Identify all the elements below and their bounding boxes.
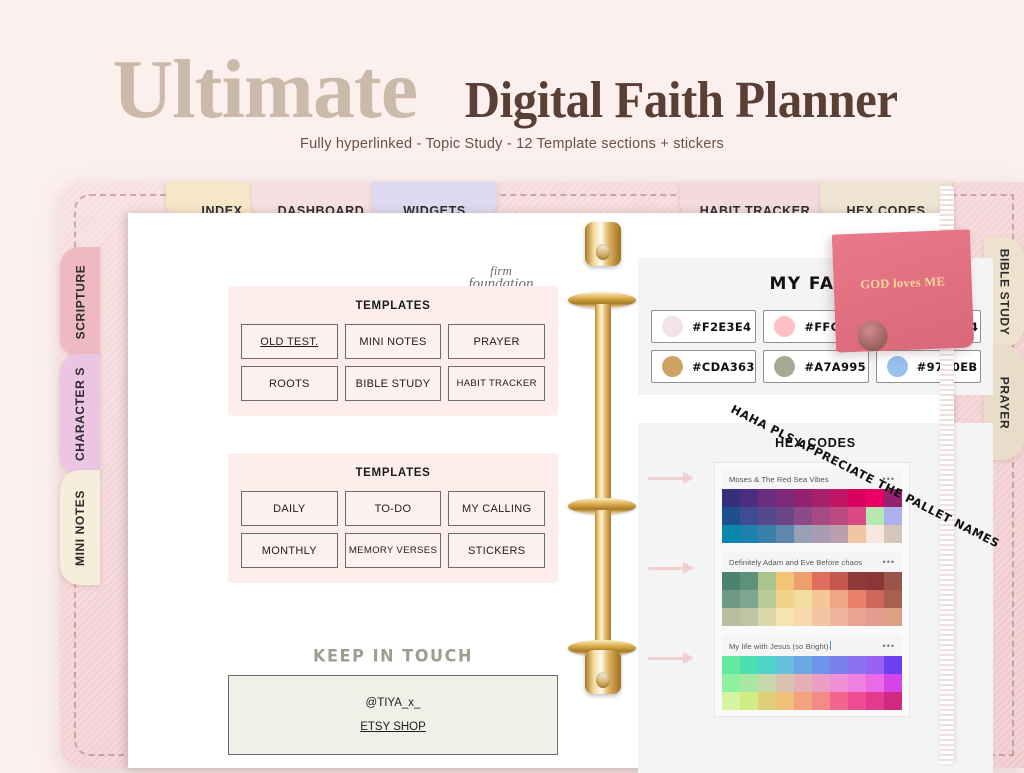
color-dot [662,356,683,377]
template-button-stickers[interactable]: STICKERS [448,533,545,568]
palette-row [722,692,902,710]
title-row: Ultimate Digital Faith Planner [0,48,1024,132]
palette-row [722,674,902,692]
fav-swatch[interactable]: #A7A995 [763,350,868,383]
template-button-habit-tracker[interactable]: HABIT TRACKER [448,366,545,401]
templates-panel-2: TEMPLATES DAILY TO-DO MY CALLING MONTHLY… [228,453,558,583]
tab-label: SCRIPTURE [73,265,87,340]
tab-scripture[interactable]: SCRIPTURE [60,247,100,357]
color-dot [662,316,683,337]
tab-label: CHARACTER S [73,367,87,461]
color-dot [774,316,795,337]
template-button-label: MY CALLING [462,503,531,515]
ring-clasp [585,222,621,266]
template-button-label: MONTHLY [262,545,317,557]
fav-swatch[interactable]: #CDA363 [651,350,756,383]
palette-swatch-rows [722,572,902,626]
color-dot [774,356,795,377]
palette-row [722,572,902,590]
hex-code-label: #F2E3E4 [692,320,751,334]
sticky-note-text: GOD loves ME [833,273,971,293]
instagram-handle: @TIYA_x_ [366,697,421,709]
arrow-icon [648,561,698,575]
planner-page: firm foundation TEMPLATES OLD TEST. MINI… [128,213,952,768]
arrow-icon [648,651,698,665]
template-button-label: PRAYER [474,336,520,348]
keep-in-touch-box: @TIYA_x_ ETSY SHOP [228,675,558,755]
palette-name: Moses & The Red Sea Vibes [729,475,829,484]
ring-clasp [585,650,621,694]
fav-swatch[interactable]: #97C0EB [876,350,981,383]
arrow-icon [648,471,698,485]
template-button-label: ROOTS [269,378,310,390]
tab-label: PRAYER [997,376,1011,429]
palette-row [722,608,902,626]
template-button-roots[interactable]: ROOTS [241,366,338,401]
keep-in-touch-title: KEEP IN TOUCH [228,646,558,666]
template-button-label: DAILY [273,503,305,515]
templates-panel-2-grid: DAILY TO-DO MY CALLING MONTHLY MEMORY VE… [228,479,558,582]
template-button-monthly[interactable]: MONTHLY [241,533,338,568]
hex-code-label: #A7A995 [804,360,866,374]
palette-header: My life with Jesus (so Bright) ••• [722,635,902,656]
palette-row [722,525,902,543]
template-button-mini-notes[interactable]: MINI NOTES [345,324,442,359]
etsy-shop-link[interactable]: ETSY SHOP [360,721,426,733]
sticker-blob [857,321,888,352]
palette-header: Definitely Adam and Eve Before chaos ••• [722,552,902,572]
template-button-bible-study[interactable]: BIBLE STUDY [345,366,442,401]
template-button-my-calling[interactable]: MY CALLING [448,491,545,526]
template-button-label: BIBLE STUDY [356,378,431,390]
templates-panel-2-title: TEMPLATES [228,453,558,479]
planner-page-surface: firm foundation TEMPLATES OLD TEST. MINI… [133,218,952,768]
palette-name: My life with Jesus (so Bright) [729,641,831,651]
ring-post-1 [595,304,611,504]
template-button-label: OLD TEST. [260,336,318,348]
more-options-icon[interactable]: ••• [883,642,895,651]
templates-panel-1: TEMPLATES OLD TEST. MINI NOTES PRAYER RO… [228,286,558,416]
templates-panel-1-title: TEMPLATES [228,286,558,312]
template-button-label: MEMORY VERSES [349,545,437,556]
palette-swatch-rows [722,656,902,710]
sticky-note[interactable]: GOD loves ME [832,229,974,352]
template-button-label: MINI NOTES [359,336,426,348]
palette-row [722,590,902,608]
tab-label: MINI NOTES [73,489,87,565]
more-options-icon[interactable]: ••• [883,558,895,567]
hex-code-label: #CDA363 [692,360,755,374]
palette-name: Definitely Adam and Eve Before chaos [729,558,862,567]
templates-panel-1-grid: OLD TEST. MINI NOTES PRAYER ROOTS BIBLE … [228,312,558,415]
template-button-old-test[interactable]: OLD TEST. [241,324,338,359]
text-cursor [830,641,831,650]
tab-characters[interactable]: CHARACTER S [60,354,100,474]
palette-name-text: My life with Jesus (so Bright) [729,642,829,651]
page-title: Digital Faith Planner [465,75,898,127]
page-subtitle: Fully hyperlinked - Topic Study - 12 Tem… [0,136,1024,152]
ring-post-2 [595,510,611,646]
palette-swatch-rows [722,489,902,543]
template-button-label: STICKERS [468,545,525,557]
page-header: Ultimate Digital Faith Planner Fully hyp… [0,0,1024,180]
fav-swatch[interactable]: #F2E3E4 [651,310,756,343]
palette-row [722,507,902,525]
template-button-prayer[interactable]: PRAYER [448,324,545,359]
page-title-accent: Ultimate [113,48,418,132]
template-button-to-do[interactable]: TO-DO [345,491,442,526]
template-button-label: TO-DO [375,503,412,515]
palette-row [722,489,902,507]
palette-row [722,656,902,674]
palette-card-adam-eve[interactable]: Definitely Adam and Eve Before chaos ••• [722,552,902,626]
template-button-label: HABIT TRACKER [457,378,537,389]
tab-label: BIBLE STUDY [997,249,1011,336]
palette-card-jesus[interactable]: My life with Jesus (so Bright) ••• [722,635,902,710]
tab-mini-notes[interactable]: MINI NOTES [60,470,100,585]
color-dot [887,356,908,377]
binder-rings [571,218,633,773]
palette-stack: Moses & The Red Sea Vibes ••• Definitely… [714,462,910,717]
template-button-memory-verses[interactable]: MEMORY VERSES [345,533,442,568]
template-button-daily[interactable]: DAILY [241,491,338,526]
